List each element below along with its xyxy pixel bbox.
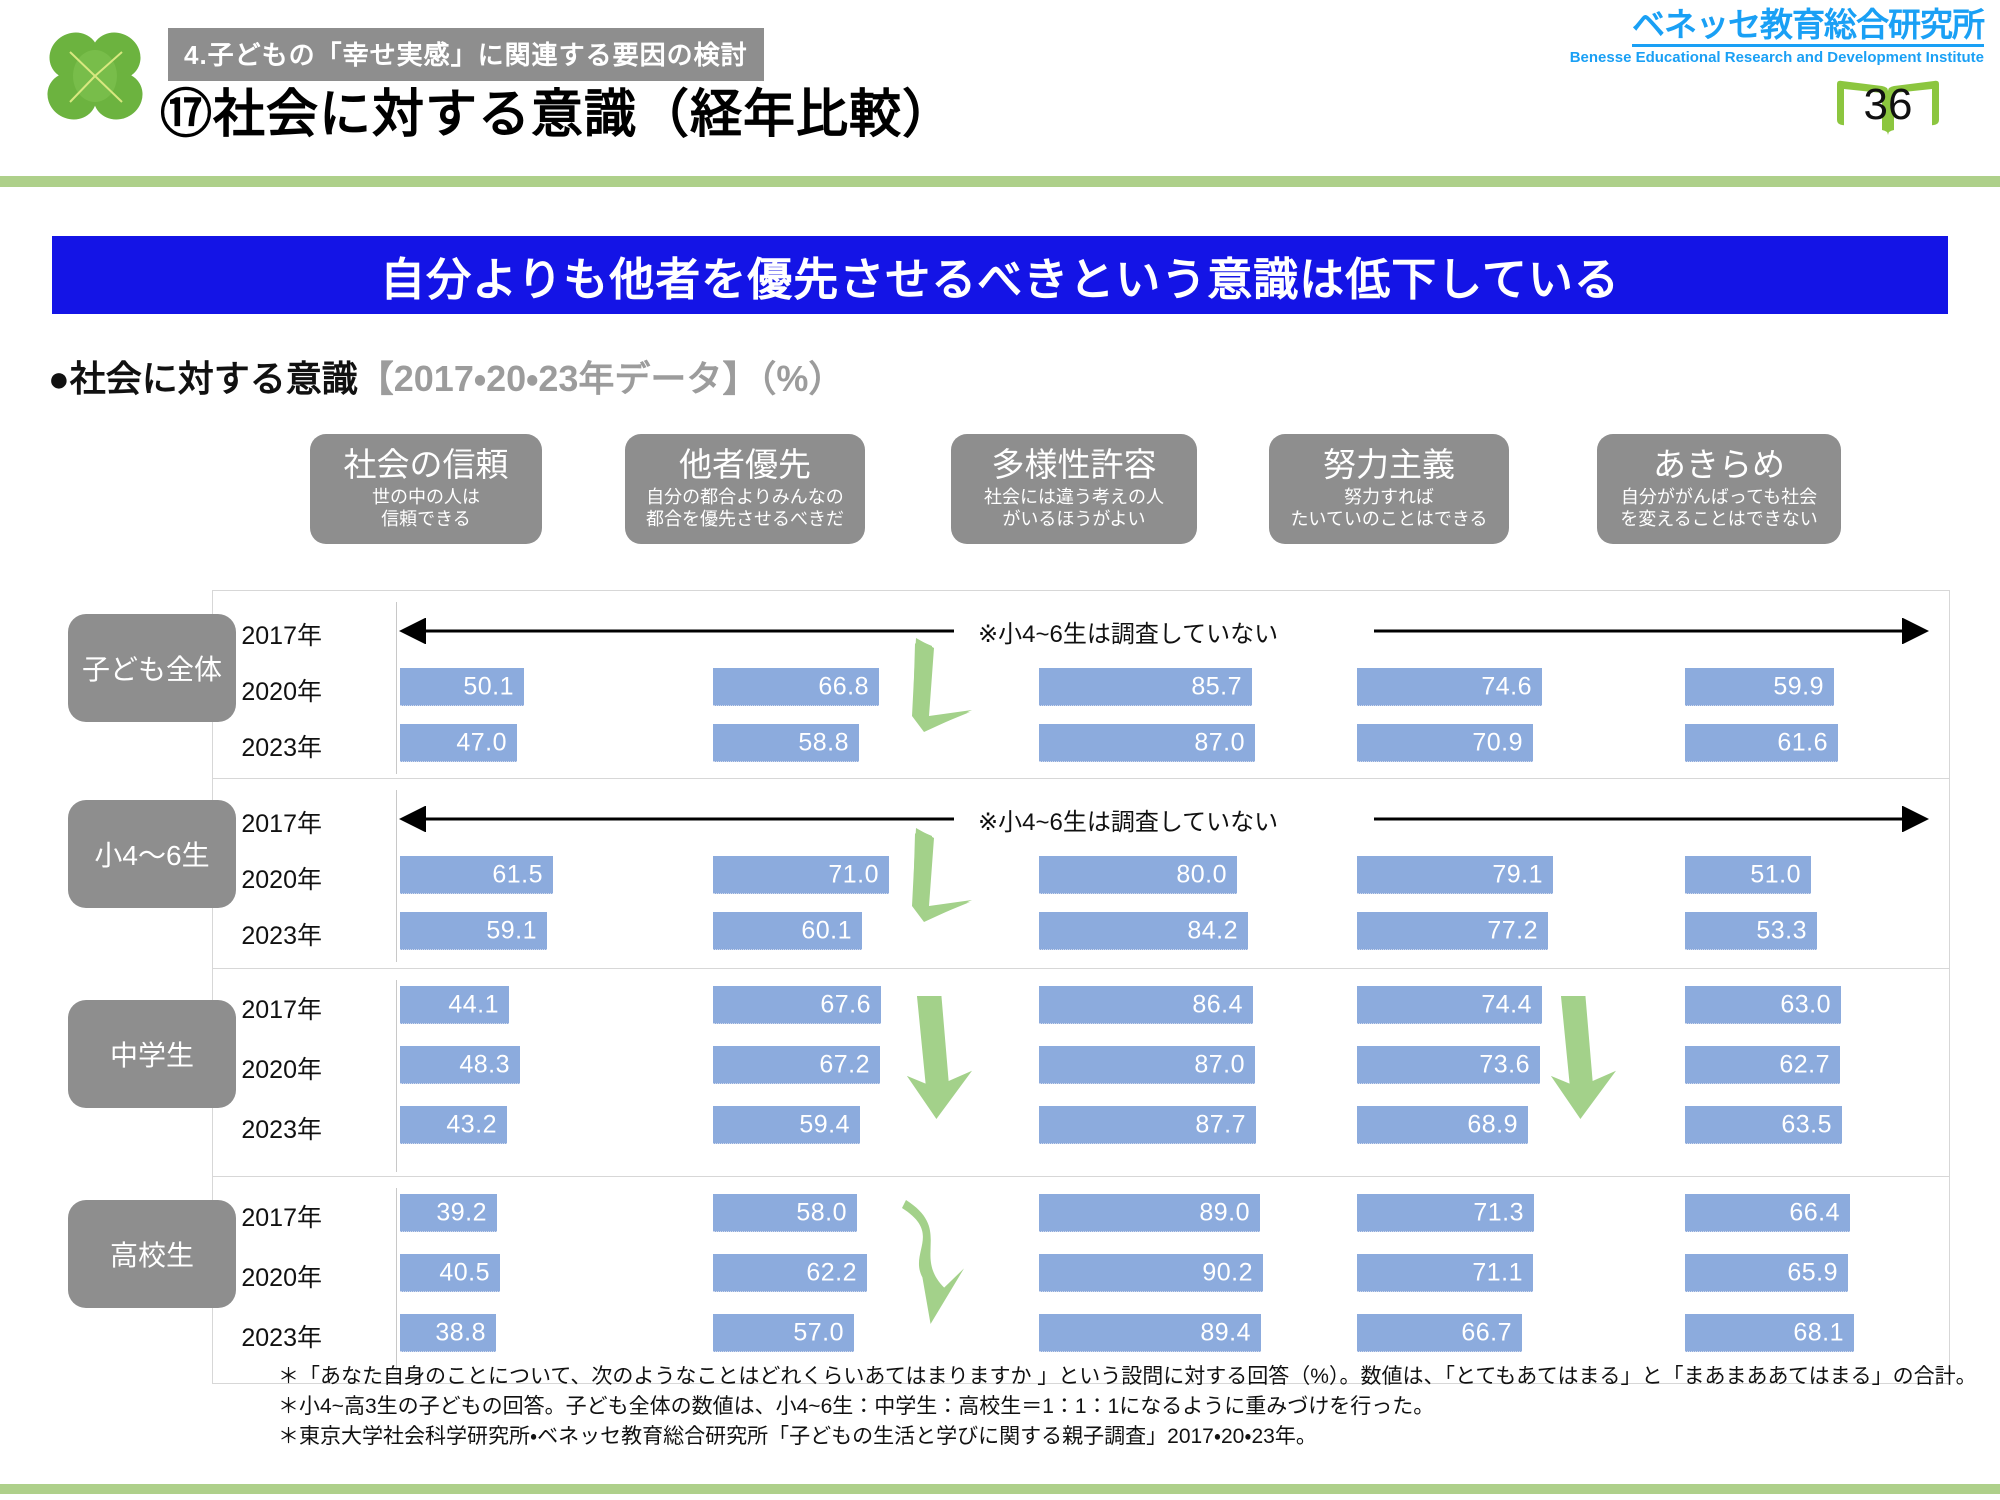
trend-down-arrow-icon [904, 994, 976, 1122]
page-number: 36 [1834, 74, 1942, 136]
column-header-tayosei-kyoyo: 多様性許容 社会には違う考えの人がいるほうがよい [951, 434, 1197, 544]
bar-value-label: 44.1 [448, 990, 499, 1019]
bar-value-label: 53.3 [1756, 916, 1807, 945]
headline-banner: 自分よりも他者を優先させるべきという意識は低下している [52, 236, 1948, 314]
bar: 40.5 [400, 1254, 500, 1292]
bar-value-label: 58.0 [796, 1198, 847, 1227]
bar-value-label: 47.0 [456, 728, 507, 757]
bar: 62.2 [713, 1254, 867, 1292]
bar: 90.2 [1039, 1254, 1263, 1292]
bar: 61.6 [1685, 724, 1838, 762]
column-header-subtitle: 自分ががんばっても社会を変えることはできない [1620, 487, 1817, 531]
trend-down-arrow-icon [1548, 994, 1620, 1122]
chart-caption-years: 【2017・20・23年データ】 [358, 358, 759, 399]
bar-value-label: 59.1 [486, 916, 537, 945]
bar: 86.4 [1039, 986, 1253, 1024]
bar: 59.4 [713, 1106, 860, 1144]
bar-value-label: 65.9 [1787, 1258, 1838, 1287]
chart-caption-main: ●社会に対する意識 [48, 358, 358, 399]
column-header-title: 多様性許容 [992, 447, 1157, 483]
bar: 44.1 [400, 986, 509, 1024]
bar: 84.2 [1039, 912, 1248, 950]
brand-logo: ベネッセ教育総合研究所 Benesse Educational Research… [1570, 6, 1984, 66]
bar-value-label: 68.1 [1793, 1318, 1844, 1347]
bar-value-label: 62.2 [806, 1258, 857, 1287]
column-header-subtitle: 自分の都合よりみんなの都合を優先させるべきだ [646, 487, 844, 531]
bar: 51.0 [1685, 856, 1811, 894]
bar-value-label: 63.5 [1781, 1110, 1832, 1139]
bar-value-label: 38.8 [435, 1318, 486, 1347]
bar-value-label: 63.0 [1780, 990, 1831, 1019]
bar-value-label: 74.6 [1481, 672, 1532, 701]
bar-value-label: 77.2 [1487, 916, 1538, 945]
year-label: 2020年 [226, 860, 322, 896]
column-header-title: 努力主義 [1323, 447, 1455, 483]
year-label: 2023年 [226, 1318, 322, 1354]
trend-down-arrow-icon [912, 826, 974, 922]
bar: 89.0 [1039, 1194, 1260, 1232]
column-header-subtitle: 努力すればたいていのことはできる [1290, 487, 1487, 531]
column-header-title: 他者優先 [679, 447, 811, 483]
brand-name-en: Benesse Educational Research and Develop… [1570, 49, 1984, 66]
bar-value-label: 71.3 [1473, 1198, 1524, 1227]
bar: 74.4 [1357, 986, 1542, 1024]
bar-value-label: 85.7 [1191, 672, 1242, 701]
footnote-line: ＊東京大学社会科学研究所・ベネッセ教育総合研究所「子どもの生活と学びに関する親子… [278, 1422, 1938, 1452]
year-label: 2017年 [226, 804, 322, 840]
footnote-line: ＊「あなた自身のことについて、次のようなことはどれくらいあてはまりますか 」とい… [278, 1362, 1938, 1392]
group-label-2: 中学生 [68, 1000, 236, 1108]
bar: 53.3 [1685, 912, 1817, 950]
footnote-line: ＊小4~高3生の子どもの回答。子ども全体の数値は、小4~6生：中学生：高校生＝1… [278, 1392, 1938, 1422]
bar: 38.8 [400, 1314, 496, 1352]
bar-value-label: 61.5 [492, 860, 543, 889]
axis-line [396, 1188, 397, 1372]
bar: 62.7 [1685, 1046, 1840, 1084]
bar-value-label: 71.0 [828, 860, 879, 889]
brand-name-jp: ベネッセ教育総合研究所 [1632, 6, 1984, 47]
bar: 60.1 [713, 912, 862, 950]
bar-value-label: 61.6 [1777, 728, 1828, 757]
bar-value-label: 57.0 [793, 1318, 844, 1347]
bar-value-label: 89.4 [1200, 1318, 1251, 1347]
bar: 66.7 [1357, 1314, 1522, 1352]
bar-value-label: 59.4 [799, 1110, 850, 1139]
bar: 63.5 [1685, 1106, 1842, 1144]
bar-value-label: 67.6 [820, 990, 871, 1019]
bar: 39.2 [400, 1194, 497, 1232]
bar: 71.3 [1357, 1194, 1534, 1232]
clover-logo-icon [40, 22, 150, 132]
bar: 79.1 [1357, 856, 1553, 894]
bar-value-label: 89.0 [1199, 1198, 1250, 1227]
bar-value-label: 51.0 [1750, 860, 1801, 889]
bar: 87.0 [1039, 724, 1255, 762]
trend-down-arrow-icon [902, 1198, 970, 1326]
bar: 50.1 [400, 668, 524, 706]
bar-value-label: 60.1 [801, 916, 852, 945]
bar-value-label: 67.2 [819, 1050, 870, 1079]
bar: 71.1 [1357, 1254, 1533, 1292]
bar: 77.2 [1357, 912, 1548, 950]
bar-value-label: 84.2 [1187, 916, 1238, 945]
bar: 66.8 [713, 668, 879, 706]
bar: 48.3 [400, 1046, 520, 1084]
page-title: ⑰社会に対する意識（経年比較） [160, 72, 955, 147]
bar: 80.0 [1039, 856, 1237, 894]
bar: 59.9 [1685, 668, 1834, 706]
bar-value-label: 48.3 [459, 1050, 510, 1079]
bar: 87.7 [1039, 1106, 1256, 1144]
year-label: 2020年 [226, 1258, 322, 1294]
bar: 68.9 [1357, 1106, 1528, 1144]
group-label-3: 高校生 [68, 1200, 236, 1308]
bar: 57.0 [713, 1314, 854, 1352]
bar-value-label: 90.2 [1202, 1258, 1253, 1287]
headline-text: 自分よりも他者を優先させるべきという意識は低下している [380, 243, 1620, 308]
bar: 67.6 [713, 986, 881, 1024]
bar: 43.2 [400, 1106, 507, 1144]
bar: 66.4 [1685, 1194, 1850, 1232]
bar-value-label: 74.4 [1481, 990, 1532, 1019]
bar: 73.6 [1357, 1046, 1540, 1084]
bar: 65.9 [1685, 1254, 1848, 1292]
bar-value-label: 87.7 [1195, 1110, 1246, 1139]
bar-value-label: 79.1 [1492, 860, 1543, 889]
bar-value-label: 66.8 [818, 672, 869, 701]
axis-line [396, 980, 397, 1172]
bar: 68.1 [1685, 1314, 1854, 1352]
bar: 70.9 [1357, 724, 1533, 762]
group-label-0: 子ども全体 [68, 614, 236, 722]
bar-value-label: 59.9 [1773, 672, 1824, 701]
bar-value-label: 80.0 [1176, 860, 1227, 889]
column-header-akirame: あきらめ 自分ががんばっても社会を変えることはできない [1597, 434, 1841, 544]
bar-value-label: 39.2 [436, 1198, 487, 1227]
year-label: 2023年 [226, 916, 322, 952]
bar: 61.5 [400, 856, 553, 894]
footer-divider [0, 1484, 2000, 1494]
bar-value-label: 66.7 [1461, 1318, 1512, 1347]
bar: 87.0 [1039, 1046, 1255, 1084]
bar-value-label: 87.0 [1194, 1050, 1245, 1079]
not-surveyed-note: ※小4~6生は調査していない [978, 614, 1278, 649]
bar-value-label: 62.7 [1779, 1050, 1830, 1079]
year-label: 2017年 [226, 1198, 322, 1234]
column-header-doryoku-shugi: 努力主義 努力すればたいていのことはできる [1269, 434, 1509, 544]
bar: 47.0 [400, 724, 517, 762]
bar-value-label: 66.4 [1789, 1198, 1840, 1227]
year-label: 2017年 [226, 616, 322, 652]
trend-down-arrow-icon [912, 636, 974, 732]
year-label: 2017年 [226, 990, 322, 1026]
bar-value-label: 58.8 [798, 728, 849, 757]
bar-value-label: 68.9 [1467, 1110, 1518, 1139]
slide-header: 4.子どもの「幸せ実感」に関連する要因の検討 ⑰社会に対する意識（経年比較） ベ… [0, 0, 2000, 182]
column-header-title: 社会の信頼 [344, 447, 509, 483]
bar: 63.0 [1685, 986, 1841, 1024]
bar: 58.8 [713, 724, 859, 762]
year-label: 2023年 [226, 1110, 322, 1146]
bar: 71.0 [713, 856, 889, 894]
column-header-tasha-yusen: 他者優先 自分の都合よりみんなの都合を優先させるべきだ [625, 434, 865, 544]
bar-value-label: 40.5 [439, 1258, 490, 1287]
not-surveyed-note: ※小4~6生は調査していない [978, 802, 1278, 837]
bar: 58.0 [713, 1194, 857, 1232]
column-header-subtitle: 社会には違う考えの人がいるほうがよい [984, 487, 1164, 531]
column-header-title: あきらめ [1653, 447, 1785, 483]
header-divider [0, 176, 2000, 187]
chart-caption-unit: （%） [758, 358, 844, 399]
bar: 89.4 [1039, 1314, 1261, 1352]
bar-value-label: 71.1 [1472, 1258, 1523, 1287]
year-label: 2020年 [226, 672, 322, 708]
bar-value-label: 50.1 [463, 672, 514, 701]
bar: 59.1 [400, 912, 547, 950]
column-header-subtitle: 世の中の人は信頼できる [372, 487, 480, 531]
group-label-1: 小4〜6生 [68, 800, 236, 908]
bar-value-label: 70.9 [1472, 728, 1523, 757]
bar-value-label: 86.4 [1192, 990, 1243, 1019]
chart-caption: ●社会に対する意識【2017・20・23年データ】（%） [48, 350, 844, 402]
bar-value-label: 87.0 [1194, 728, 1245, 757]
footnotes: ＊「あなた自身のことについて、次のようなことはどれくらいあてはまりますか 」とい… [278, 1362, 1938, 1451]
year-label: 2023年 [226, 728, 322, 764]
bar: 67.2 [713, 1046, 880, 1084]
bar: 85.7 [1039, 668, 1252, 706]
year-label: 2020年 [226, 1050, 322, 1086]
bar-value-label: 43.2 [446, 1110, 497, 1139]
bar-value-label: 73.6 [1479, 1050, 1530, 1079]
bar: 74.6 [1357, 668, 1542, 706]
column-header-shakai-no-shinrai: 社会の信頼 世の中の人は信頼できる [310, 434, 542, 544]
